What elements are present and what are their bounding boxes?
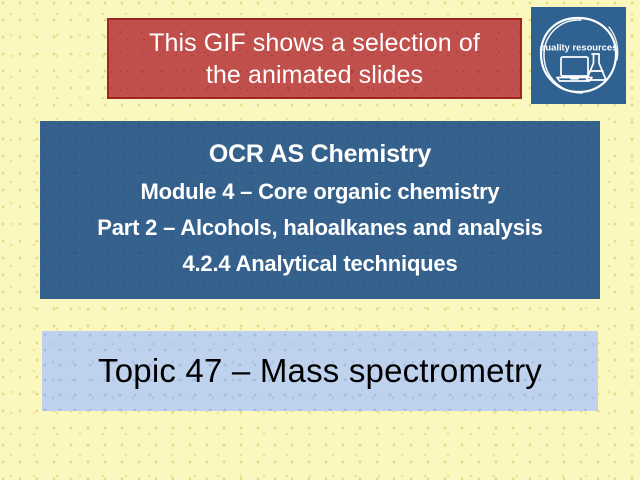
course-part-line: Part 2 – Alcohols, haloalkanes and analy… <box>97 215 542 241</box>
logo-artwork: quality resources <box>531 7 626 104</box>
course-title-line-1: OCR AS Chemistry <box>209 140 431 169</box>
topic-title-block: Topic 47 – Mass spectrometry <box>42 331 598 411</box>
course-spec-point-line: 4.2.4 Analytical techniques <box>182 251 457 277</box>
presentation-slide: This GIF shows a selection of the animat… <box>0 0 640 480</box>
quality-resources-logo: quality resources <box>531 7 626 104</box>
course-module-line: Module 4 – Core organic chemistry <box>141 179 500 205</box>
gif-notice-banner: This GIF shows a selection of the animat… <box>107 18 522 99</box>
flask-icon <box>587 54 607 80</box>
logo-brand-text: quality resources <box>540 42 618 53</box>
course-title-block: OCR AS Chemistry Module 4 – Core organic… <box>40 121 600 299</box>
topic-title-text: Topic 47 – Mass spectrometry <box>98 352 542 390</box>
gif-notice-text: This GIF shows a selection of the animat… <box>149 27 480 91</box>
